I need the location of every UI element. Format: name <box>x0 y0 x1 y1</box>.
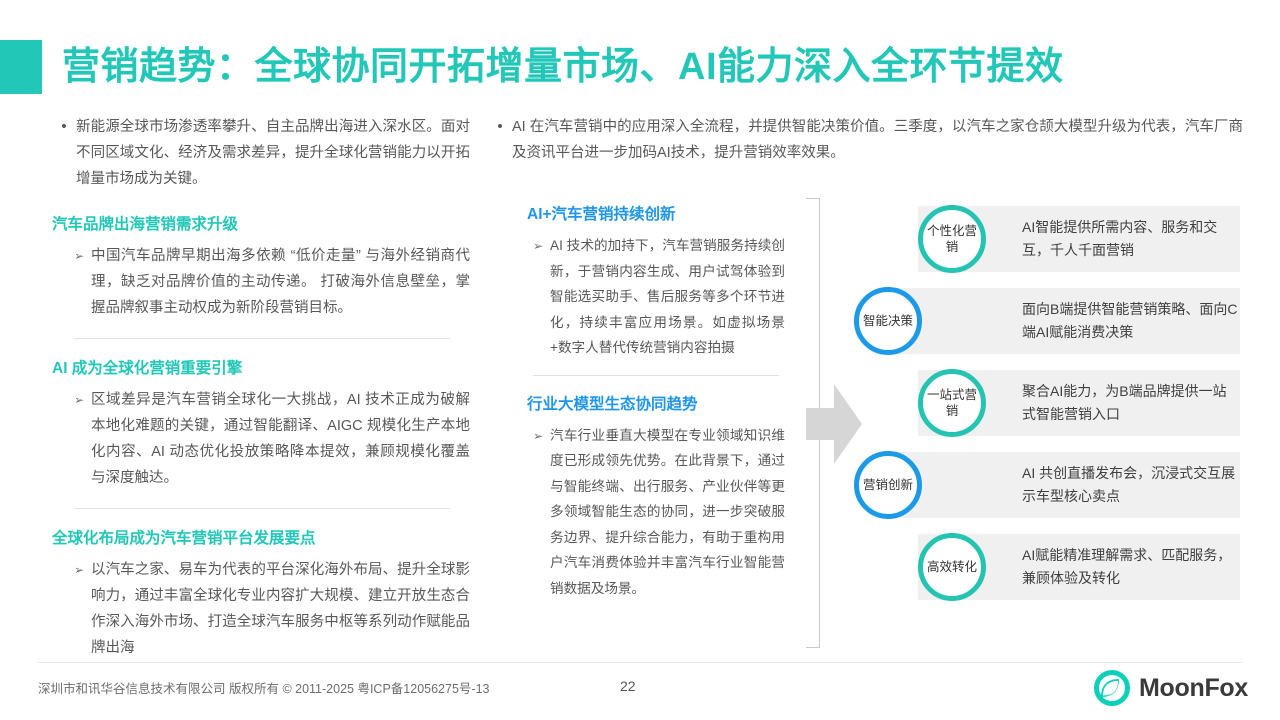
benefit-card-badge[interactable]: 营销创新 <box>854 451 922 519</box>
page-title: 营销趋势：全球协同开拓增量市场、AI能力深入全环节提效 <box>62 48 1064 86</box>
left-section-3-heading: 全球化布局成为汽车营销平台发展要点 <box>52 526 470 548</box>
bullet-dot-icon: • <box>488 114 512 140</box>
middle-column: AI+汽车营销持续创新 ➢ AI 技术的加持下，汽车营销服务持续创新，于营销内容… <box>527 202 785 601</box>
right-lead-bullet-text: AI 在汽车营销中的应用深入全流程，并提供智能决策价值。三季度，以汽车之家仓颉大… <box>512 114 1243 166</box>
benefit-card-badge-label: 一站式营销 <box>923 387 981 419</box>
left-section-3: 全球化布局成为汽车营销平台发展要点 ➢ 以汽车之家、易车为代表的平台深化海外布局… <box>52 526 470 661</box>
left-section-3-text: 以汽车之家、易车为代表的平台深化海外布局、提升全球影响力，通过丰富全球化专业内容… <box>91 557 470 661</box>
title-accent-block <box>0 40 42 94</box>
benefit-card-text: 聚合AI能力，为B端品牌提供一站式智能营销入口 <box>1022 380 1240 426</box>
left-section-3-item: ➢ 以汽车之家、易车为代表的平台深化海外布局、提升全球影响力，通过丰富全球化专业… <box>52 557 470 661</box>
benefit-card-text: 面向B端提供智能营销策略、面向C端AI赋能消费决策 <box>1022 298 1240 344</box>
mid-section-2-text: 汽车行业垂直大模型在专业领域知识维度已形成领先优势。在此背景下，通过与智能终端、… <box>550 423 785 602</box>
arrow-right-icon: ➢ <box>533 233 550 259</box>
left-section-1: 汽车品牌出海营销需求升级 ➢ 中国汽车品牌早期出海多依赖 “低价走量” 与海外经… <box>52 212 470 321</box>
benefit-card-badge[interactable]: 高效转化 <box>918 533 986 601</box>
benefit-card-list: AI智能提供所需内容、服务和交互，千人千面营销 个性化营销 面向B端提供智能营销… <box>840 206 1240 616</box>
benefit-card-badge[interactable]: 智能决策 <box>854 287 922 355</box>
mid-section-1-text: AI 技术的加持下，汽车营销服务持续创新，于营销内容生成、用户试驾体验到智能选买… <box>550 233 785 361</box>
mid-section-2: 行业大模型生态协同趋势 ➢ 汽车行业垂直大模型在专业领域知识维度已形成领先优势。… <box>527 392 785 602</box>
mid-divider-1 <box>533 375 779 376</box>
benefit-card-badge-label: 个性化营销 <box>923 223 981 255</box>
footer-copyright: 深圳市和讯华谷信息技术有限公司 版权所有 © 2011-2025 粤ICP备12… <box>38 678 489 697</box>
benefit-card-badge-label: 智能决策 <box>863 313 913 329</box>
left-section-1-text: 中国汽车品牌早期出海多依赖 “低价走量” 与海外经销商代理，缺乏对品牌价值的主动… <box>91 243 470 321</box>
benefit-card-badge-label: 高效转化 <box>927 559 977 575</box>
slide-canvas: 营销趋势：全球协同开拓增量市场、AI能力深入全环节提效 • 新能源全球市场渗透率… <box>0 0 1280 720</box>
page-number: 22 <box>620 678 636 694</box>
right-lead-bullet-row: • AI 在汽车营销中的应用深入全流程，并提供智能决策价值。三季度，以汽车之家仓… <box>488 114 1243 166</box>
left-column: • 新能源全球市场渗透率攀升、自主品牌出海进入深水区。面对不同区域文化、经济及需… <box>52 114 470 661</box>
benefit-card-text: AI智能提供所需内容、服务和交互，千人千面营销 <box>1022 216 1240 262</box>
benefit-card-text: AI赋能精准理解需求、匹配服务，兼顾体验及转化 <box>1022 544 1240 590</box>
mid-section-2-heading: 行业大模型生态协同趋势 <box>527 392 785 414</box>
left-section-1-item: ➢ 中国汽车品牌早期出海多依赖 “低价走量” 与海外经销商代理，缺乏对品牌价值的… <box>52 243 470 321</box>
left-section-1-heading: 汽车品牌出海营销需求升级 <box>52 212 470 234</box>
benefit-card-text: AI 共创直播发布会，沉浸式交互展示车型核心卖点 <box>1022 462 1240 508</box>
moonfox-mark-icon <box>1094 670 1130 706</box>
benefit-card-badge-label: 营销创新 <box>863 477 913 493</box>
benefit-card-badge[interactable]: 一站式营销 <box>918 369 986 437</box>
benefit-card-badge[interactable]: 个性化营销 <box>918 205 986 273</box>
benefit-card[interactable]: 面向B端提供智能营销策略、面向C端AI赋能消费决策 <box>888 288 1240 354</box>
mid-section-2-item: ➢ 汽车行业垂直大模型在专业领域知识维度已形成领先优势。在此背景下，通过与智能终… <box>527 423 785 602</box>
left-section-2-item: ➢ 区域差异是汽车营销全球化一大挑战，AI 技术正成为破解本地化难题的关键，通过… <box>52 387 470 491</box>
arrow-right-icon: ➢ <box>533 423 550 449</box>
mid-section-1: AI+汽车营销持续创新 ➢ AI 技术的加持下，汽车营销服务持续创新，于营销内容… <box>527 202 785 361</box>
right-lead-bullet: • AI 在汽车营销中的应用深入全流程，并提供智能决策价值。三季度，以汽车之家仓… <box>488 114 1243 166</box>
mid-section-1-heading: AI+汽车营销持续创新 <box>527 202 785 224</box>
left-divider-1 <box>74 338 450 339</box>
bullet-dot-icon: • <box>52 114 76 140</box>
footer-divider <box>38 662 1242 663</box>
brand-logo: MoonFox <box>1094 670 1248 706</box>
arrow-right-icon: ➢ <box>74 243 91 269</box>
left-section-2: AI 成为全球化营销重要引擎 ➢ 区域差异是汽车营销全球化一大挑战，AI 技术正… <box>52 356 470 491</box>
arrow-right-icon: ➢ <box>74 557 91 583</box>
benefit-card[interactable]: AI 共创直播发布会，沉浸式交互展示车型核心卖点 <box>888 452 1240 518</box>
mid-section-1-item: ➢ AI 技术的加持下，汽车营销服务持续创新，于营销内容生成、用户试驾体验到智能… <box>527 233 785 361</box>
left-section-2-text: 区域差异是汽车营销全球化一大挑战，AI 技术正成为破解本地化难题的关键，通过智能… <box>91 387 470 491</box>
brand-name: MoonFox <box>1139 674 1248 703</box>
left-lead-bullet-text: 新能源全球市场渗透率攀升、自主品牌出海进入深水区。面对不同区域文化、经济及需求差… <box>76 114 470 192</box>
left-divider-2 <box>74 508 450 509</box>
slide-title-bar: 营销趋势：全球协同开拓增量市场、AI能力深入全环节提效 <box>0 38 1064 96</box>
left-lead-bullet: • 新能源全球市场渗透率攀升、自主品牌出海进入深水区。面对不同区域文化、经济及需… <box>52 114 470 192</box>
arrow-right-icon: ➢ <box>74 387 91 413</box>
left-section-2-heading: AI 成为全球化营销重要引擎 <box>52 356 470 378</box>
